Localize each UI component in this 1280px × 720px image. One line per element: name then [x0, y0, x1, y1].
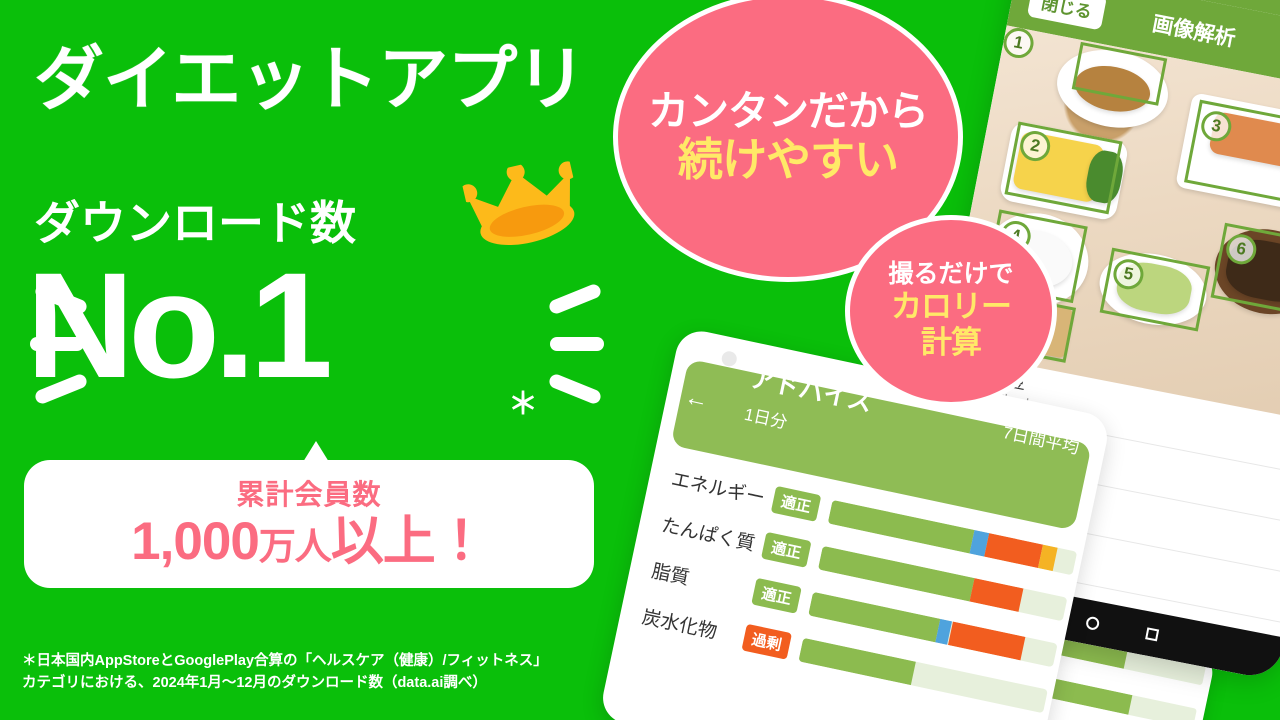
badge-calorie-calculation: 撮るだけで カロリー 計算 [845, 215, 1057, 407]
badge-line-2: 続けやすい [678, 135, 898, 185]
rank-asterisk: ＊ [508, 390, 538, 420]
camera-icon [720, 350, 738, 368]
members-unit: 万人 [259, 526, 331, 567]
recents-icon[interactable] [1145, 627, 1159, 641]
members-count: 1,000万人以上！ [131, 515, 487, 568]
footnote-line-1: ＊日本国内AppStoreとGooglePlay合算の「ヘルスケア（健康）/フィ… [22, 650, 662, 672]
badge-pointer [303, 441, 329, 462]
footnote: ＊日本国内AppStoreとGooglePlay合算の「ヘルスケア（健康）/フィ… [22, 650, 662, 695]
footnote-line-2: カテゴリにおける、2024年1月〜12月のダウンロード数（data.ai調べ） [22, 672, 662, 694]
members-badge: 累計会員数 1,000万人以上！ [24, 460, 594, 588]
nutrient-label: 炭水化物 [640, 602, 747, 650]
badge-line-3: 計算 [921, 325, 981, 362]
status-badge: 適正 [771, 486, 822, 522]
poster-canvas: ダイエットアプリ ダウンロード数 No.1 ＊ 累計会員数 1,000万人以上！… [0, 0, 1280, 720]
download-label: ダウンロード数 [34, 200, 356, 246]
status-badge: 適正 [761, 532, 812, 568]
members-suffix: 以上！ [331, 512, 487, 571]
rank-number: No.1 [26, 250, 327, 400]
back-arrow-icon[interactable]: ← [682, 385, 710, 413]
crown-icon [461, 154, 590, 271]
badge-line-1: カンタンだから [648, 89, 928, 135]
home-icon[interactable] [1085, 615, 1100, 630]
detection-number: 1 [1001, 25, 1036, 60]
close-button[interactable]: 閉じる [1027, 0, 1107, 30]
status-badge: 適正 [751, 578, 802, 614]
members-label: 累計会員数 [236, 481, 381, 509]
badge-line-1: 撮るだけで [888, 260, 1013, 289]
screen-title: 画像解析 [1150, 8, 1238, 53]
members-number: 1,000 [131, 512, 259, 571]
page-title: ダイエットアプリ [34, 44, 585, 114]
status-badge: 過剰 [741, 624, 792, 660]
badge-line-2: カロリー [891, 289, 1011, 326]
